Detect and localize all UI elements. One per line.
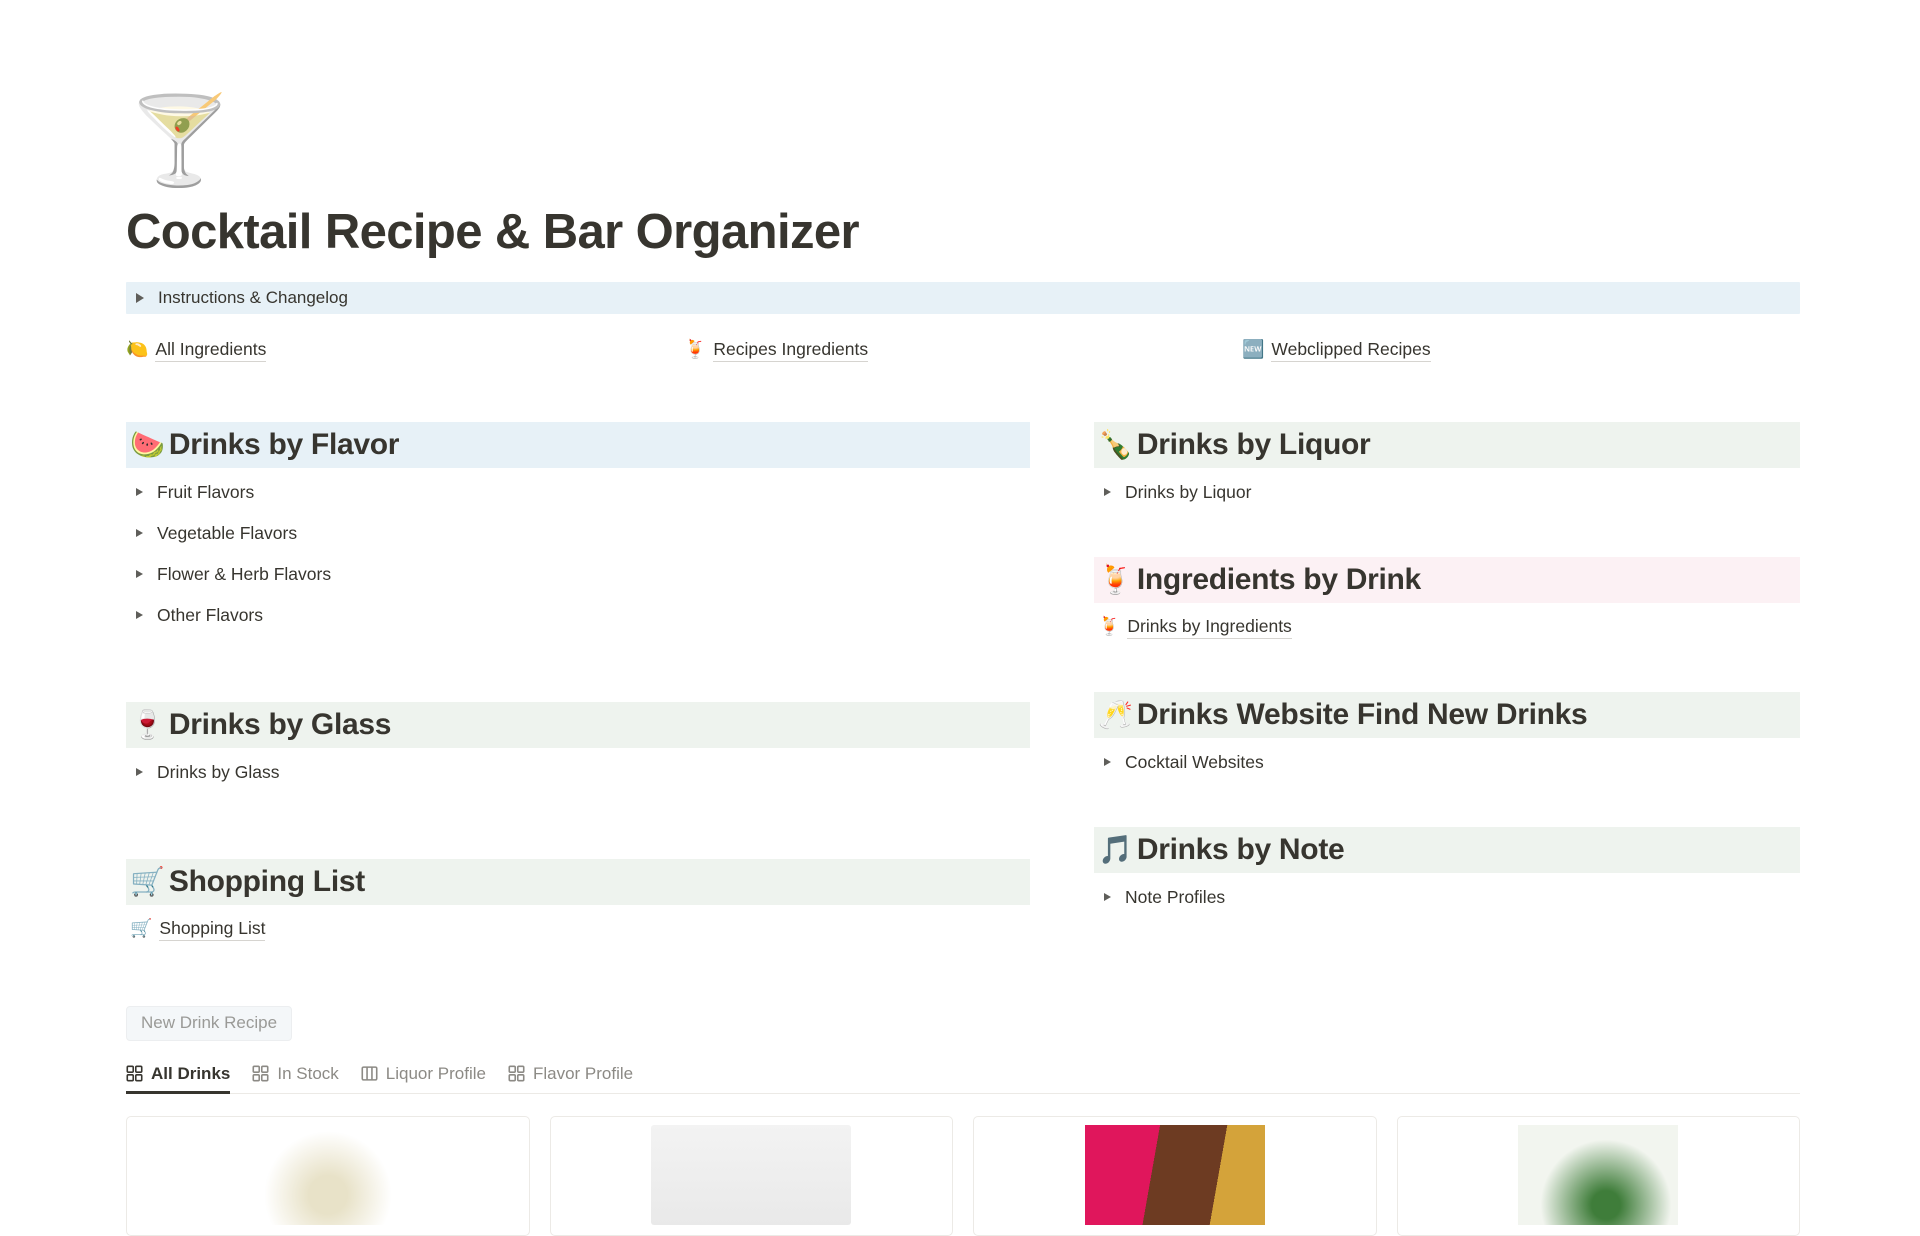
instructions-changelog-toggle[interactable]: Instructions & Changelog: [126, 282, 1800, 314]
database-view-tabs: All Drinks In Stock: [126, 1053, 1800, 1094]
section-shopping-list: 🛒 Shopping List 🛒 Shopping List: [126, 859, 1030, 950]
drink-thumbnail: [1518, 1125, 1678, 1225]
tropical-drink-icon: 🍹: [1098, 566, 1133, 594]
toggle-other-flavors[interactable]: Other Flavors: [126, 595, 1030, 636]
page-content: 🍸 Cocktail Recipe & Bar Organizer Instru…: [126, 0, 1800, 1236]
spacer: [126, 793, 1030, 859]
clinking-glasses-icon: 🥂: [1098, 701, 1133, 729]
link-label: Drinks by Ingredients: [1127, 616, 1291, 639]
toggle-label: Other Flavors: [157, 605, 263, 626]
section-header: 🎵 Drinks by Note: [1094, 827, 1800, 873]
chevron-right-icon: [136, 529, 143, 537]
tab-label: In Stock: [277, 1064, 338, 1084]
board-columns-icon: [361, 1065, 378, 1082]
drink-thumbnail: [248, 1125, 408, 1225]
section-title: Drinks by Note: [1137, 833, 1345, 867]
tropical-drink-icon: 🍹: [684, 341, 706, 359]
section-drinks-website-find-new-drinks: 🥂 Drinks Website Find New Drinks Cocktai…: [1094, 692, 1800, 783]
chevron-right-icon: [1104, 488, 1111, 496]
spacer: [1094, 648, 1800, 692]
drink-card-gallery: [126, 1116, 1800, 1236]
quick-link-recipes-ingredients[interactable]: 🍹 Recipes Ingredients: [684, 339, 868, 362]
gallery-grid-icon: [126, 1065, 143, 1082]
toggle-drinks-by-liquor[interactable]: Drinks by Liquor: [1094, 472, 1800, 513]
toggle-flower-herb-flavors[interactable]: Flower & Herb Flavors: [126, 554, 1030, 595]
gallery-grid-icon: [252, 1065, 269, 1082]
chevron-right-icon: [136, 570, 143, 578]
section-title: Ingredients by Drink: [1137, 563, 1421, 597]
toggle-label: Drinks by Liquor: [1125, 482, 1251, 503]
tab-flavor-profile[interactable]: Flavor Profile: [508, 1064, 633, 1093]
drink-card[interactable]: [550, 1116, 954, 1236]
section-header: 🍉 Drinks by Flavor: [126, 422, 1030, 468]
quick-link-label: All Ingredients: [155, 339, 266, 362]
section-ingredients-by-drink: 🍹 Ingredients by Drink 🍹 Drinks by Ingre…: [1094, 557, 1800, 648]
two-column-layout: 🍉 Drinks by Flavor Fruit Flavors Vegetab…: [126, 422, 1800, 950]
lemon-icon: 🍋: [126, 341, 148, 359]
chevron-right-icon: [1104, 893, 1111, 901]
drink-card[interactable]: [1397, 1116, 1801, 1236]
drink-card[interactable]: [126, 1116, 530, 1236]
section-drinks-by-flavor: 🍉 Drinks by Flavor Fruit Flavors Vegetab…: [126, 422, 1030, 636]
section-drinks-by-glass: 🍷 Drinks by Glass Drinks by Glass: [126, 702, 1030, 793]
link-label: Shopping List: [159, 918, 265, 941]
tab-label: Liquor Profile: [386, 1064, 486, 1084]
musical-note-icon: 🎵: [1098, 836, 1133, 864]
tropical-drink-icon: 🍹: [1098, 618, 1120, 636]
section-header: 🛒 Shopping List: [126, 859, 1030, 905]
quick-link-column: 🆕 Webclipped Recipes: [1242, 339, 1800, 362]
link-shopping-list[interactable]: 🛒 Shopping List: [126, 909, 1030, 950]
toggle-note-profiles[interactable]: Note Profiles: [1094, 877, 1800, 918]
gallery-grid-icon: [508, 1065, 525, 1082]
right-column: 🍾 Drinks by Liquor Drinks by Liquor 🍹 In…: [1094, 422, 1800, 950]
toggle-vegetable-flavors[interactable]: Vegetable Flavors: [126, 513, 1030, 554]
section-title: Drinks by Flavor: [169, 428, 399, 462]
toggle-label: Note Profiles: [1125, 887, 1225, 908]
quick-link-webclipped-recipes[interactable]: 🆕 Webclipped Recipes: [1242, 339, 1431, 362]
drink-card[interactable]: [973, 1116, 1377, 1236]
section-header: 🍹 Ingredients by Drink: [1094, 557, 1800, 603]
toggle-fruit-flavors[interactable]: Fruit Flavors: [126, 472, 1030, 513]
champagne-bottle-icon: 🍾: [1098, 431, 1133, 459]
chevron-right-icon: [136, 488, 143, 496]
toggle-label: Fruit Flavors: [157, 482, 254, 503]
section-header: 🥂 Drinks Website Find New Drinks: [1094, 692, 1800, 738]
tab-in-stock[interactable]: In Stock: [252, 1064, 338, 1093]
chevron-right-icon: [136, 293, 144, 303]
chevron-right-icon: [136, 611, 143, 619]
section-drinks-by-note: 🎵 Drinks by Note Note Profiles: [1094, 827, 1800, 918]
quick-links-row: 🍋 All Ingredients 🍹 Recipes Ingredients …: [126, 339, 1800, 362]
instructions-changelog-label: Instructions & Changelog: [158, 288, 348, 308]
toggle-label: Cocktail Websites: [1125, 752, 1264, 773]
wine-glass-icon: 🍷: [130, 711, 165, 739]
chevron-right-icon: [136, 768, 143, 776]
tab-liquor-profile[interactable]: Liquor Profile: [361, 1064, 486, 1093]
quick-link-label: Webclipped Recipes: [1271, 339, 1430, 362]
shopping-cart-icon: 🛒: [130, 868, 165, 896]
new-drink-recipe-button[interactable]: New Drink Recipe: [126, 1006, 292, 1041]
quick-link-column: 🍹 Recipes Ingredients: [684, 339, 1242, 362]
chevron-right-icon: [1104, 758, 1111, 766]
section-title: Drinks Website Find New Drinks: [1137, 698, 1588, 732]
drink-thumbnail: [651, 1125, 851, 1225]
section-title: Drinks by Liquor: [1137, 428, 1371, 462]
left-column: 🍉 Drinks by Flavor Fruit Flavors Vegetab…: [126, 422, 1030, 950]
link-drinks-by-ingredients[interactable]: 🍹 Drinks by Ingredients: [1094, 607, 1800, 648]
new-badge-icon: 🆕: [1242, 341, 1264, 359]
tab-all-drinks[interactable]: All Drinks: [126, 1064, 230, 1093]
toggle-drinks-by-glass[interactable]: Drinks by Glass: [126, 752, 1030, 793]
drinks-database-block: New Drink Recipe All Drinks: [126, 1006, 1800, 1236]
shopping-cart-icon: 🛒: [130, 920, 152, 938]
section-title: Drinks by Glass: [169, 708, 391, 742]
toggle-label: Drinks by Glass: [157, 762, 280, 783]
drink-thumbnail: [1085, 1125, 1265, 1225]
tab-label: All Drinks: [151, 1064, 230, 1084]
toggle-label: Vegetable Flavors: [157, 523, 297, 544]
section-title: Shopping List: [169, 865, 365, 899]
notion-page: 🍸 Cocktail Recipe & Bar Organizer Instru…: [0, 0, 1920, 1199]
spacer: [1094, 783, 1800, 827]
quick-link-label: Recipes Ingredients: [713, 339, 868, 362]
watermelon-icon: 🍉: [130, 431, 165, 459]
spacer: [126, 636, 1030, 702]
page-title: Cocktail Recipe & Bar Organizer: [126, 206, 1800, 260]
toggle-label: Flower & Herb Flavors: [157, 564, 331, 585]
quick-link-column: 🍋 All Ingredients: [126, 339, 684, 362]
section-header: 🍷 Drinks by Glass: [126, 702, 1030, 748]
quick-link-all-ingredients[interactable]: 🍋 All Ingredients: [126, 339, 266, 362]
spacer: [1094, 513, 1800, 557]
toggle-cocktail-websites[interactable]: Cocktail Websites: [1094, 742, 1800, 783]
section-header: 🍾 Drinks by Liquor: [1094, 422, 1800, 468]
tab-label: Flavor Profile: [533, 1064, 633, 1084]
cocktail-glass-icon: 🍸: [126, 98, 1800, 198]
section-drinks-by-liquor: 🍾 Drinks by Liquor Drinks by Liquor: [1094, 422, 1800, 513]
